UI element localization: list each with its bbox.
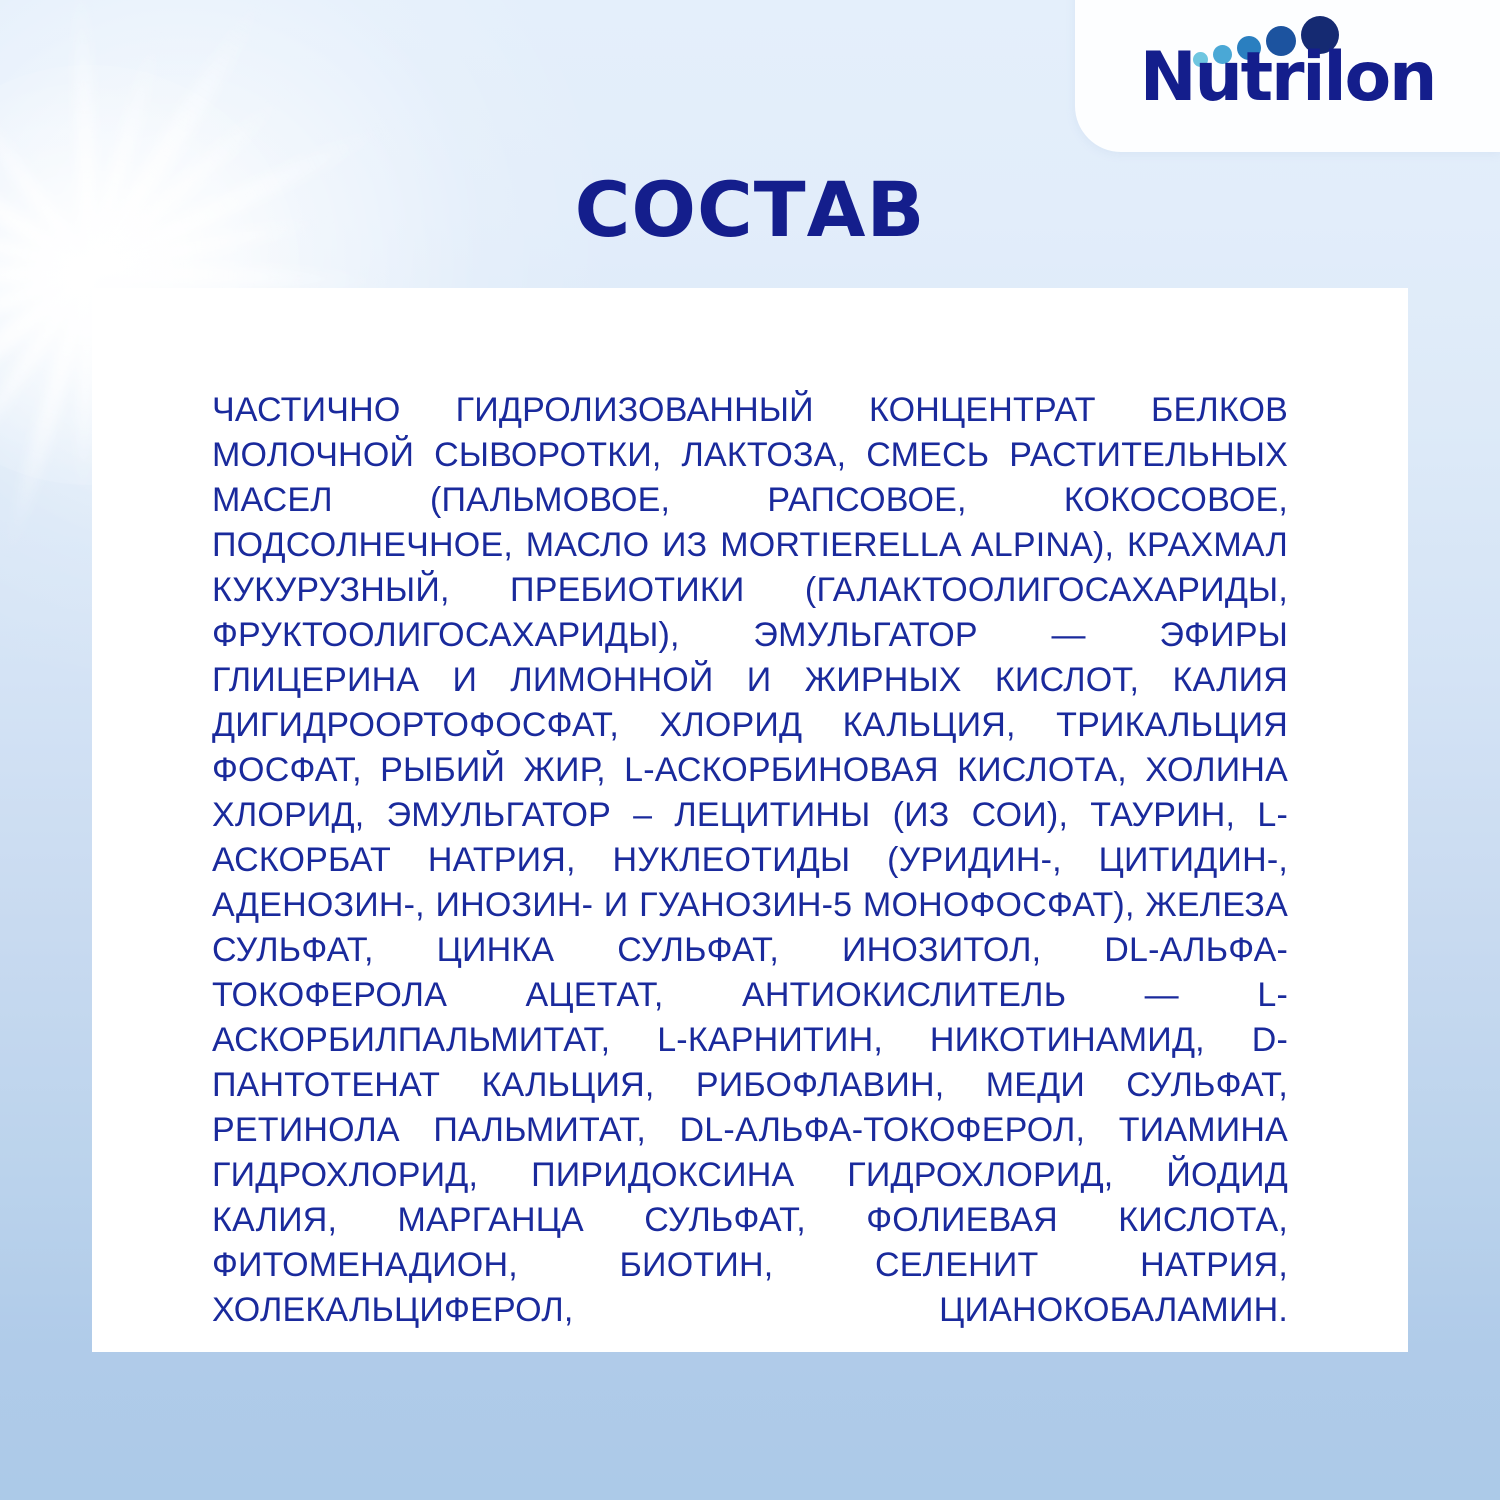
composition-poster: Nutrilon® СОСТАВ ЧАСТИЧНО ГИДРОЛИЗОВАННЫ… xyxy=(0,0,1500,1500)
light-ray xyxy=(0,266,97,482)
page-title: СОСТАВ xyxy=(0,172,1500,248)
light-ray xyxy=(0,264,97,485)
ingredients-text: ЧАСТИЧНО ГИДРОЛИЗОВАННЫЙ КОНЦЕНТРАТ БЕЛК… xyxy=(212,388,1288,1378)
brand-name-text: Nutrilon xyxy=(1140,44,1436,112)
brand-logo-plate: Nutrilon® xyxy=(1075,0,1500,152)
ingredients-block: ЧАСТИЧНО ГИДРОЛИЗОВАННЫЙ КОНЦЕНТРАТ БЕЛК… xyxy=(212,388,1288,1378)
brand-logo: Nutrilon® xyxy=(1075,0,1500,152)
light-ray xyxy=(0,269,99,562)
light-ray xyxy=(0,262,90,292)
content-card: ЧАСТИЧНО ГИДРОЛИЗОВАННЫЙ КОНЦЕНТРАТ БЕЛК… xyxy=(92,288,1408,1352)
light-ray xyxy=(0,263,93,369)
brand-wordmark: Nutrilon® xyxy=(1075,44,1500,112)
light-ray xyxy=(90,262,390,290)
